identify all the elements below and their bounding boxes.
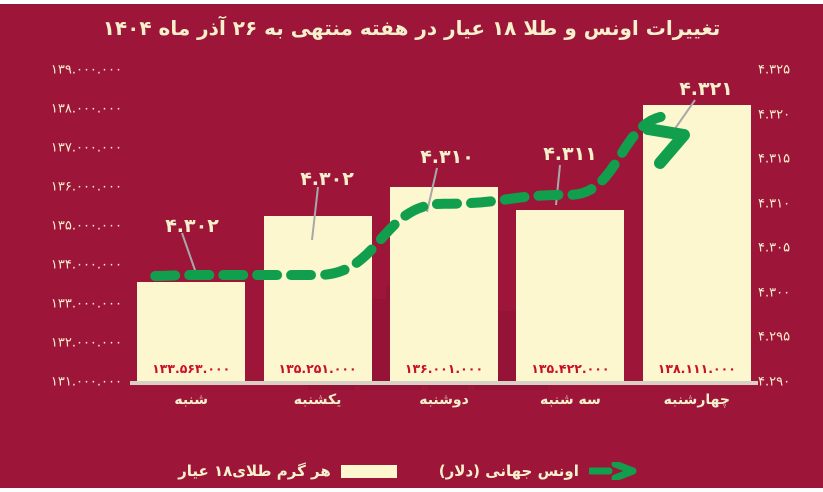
point-label-1: ۴.۳۰۲ xyxy=(300,168,354,190)
left-tick: ۱۳۴.۰۰۰.۰۰۰ xyxy=(4,258,122,273)
left-tick: ۱۳۷.۰۰۰.۰۰۰ xyxy=(4,141,122,156)
bar-value-label: ۱۳۸.۱۱۱.۰۰۰ xyxy=(643,361,751,376)
point-label-2: ۴.۳۱۰ xyxy=(420,146,474,168)
bar-0[interactable]: ۱۳۳.۵۶۳.۰۰۰ xyxy=(137,282,245,382)
bar-value-label: ۱۳۶.۰۰۱.۰۰۰ xyxy=(390,361,498,376)
point-label-0: ۴.۳۰۲ xyxy=(165,215,219,237)
point-label-3: ۴.۳۱۱ xyxy=(543,143,597,165)
left-tick: ۱۳۵.۰۰۰.۰۰۰ xyxy=(4,219,122,234)
left-tick: ۱۳۱.۰۰۰.۰۰۰ xyxy=(4,375,122,390)
right-tick: ۴.۳۲۰ xyxy=(758,107,820,122)
left-tick: ۱۳۳.۰۰۰.۰۰۰ xyxy=(4,297,122,312)
bar-3[interactable]: ۱۳۵.۴۲۲.۰۰۰ xyxy=(516,210,624,382)
cream-bar-swatch xyxy=(341,465,397,478)
right-tick: ۴.۳۲۵ xyxy=(758,63,820,78)
axis-baseline xyxy=(130,381,758,385)
left-tick: ۱۳۶.۰۰۰.۰۰۰ xyxy=(4,180,122,195)
category-label-4: چهارشنبه xyxy=(664,392,730,408)
right-tick: ۴.۳۱۰ xyxy=(758,196,820,211)
category-label-2: دوشنبه xyxy=(419,392,469,408)
right-tick: ۴.۳۱۵ xyxy=(758,152,820,167)
legend-item-ounce: اونس جهانی (دلار) xyxy=(439,462,645,480)
chart-legend: اونس جهانی (دلار) هر گرم طلای۱۸ عیار xyxy=(0,462,823,480)
left-tick: ۱۳۸.۰۰۰.۰۰۰ xyxy=(4,102,122,117)
category-label-0: شنبه xyxy=(174,392,208,408)
chart-title: تغییرات اونس و طلا ۱۸ عیار در هفته منتهی… xyxy=(0,16,823,40)
bar-value-label: ۱۳۵.۲۵۱.۰۰۰ xyxy=(264,361,372,376)
bar-value-label: ۱۳۳.۵۶۳.۰۰۰ xyxy=(137,361,245,376)
right-tick: ۴.۲۹۰ xyxy=(758,375,820,390)
plot-area: ۱۳۳.۵۶۳.۰۰۰۱۳۵.۲۵۱.۰۰۰۱۳۶.۰۰۱.۰۰۰۱۳۵.۴۲۲… xyxy=(128,70,760,382)
right-tick: ۴.۲۹۵ xyxy=(758,330,820,345)
left-tick: ۱۳۹.۰۰۰.۰۰۰ xyxy=(4,63,122,78)
bar-1[interactable]: ۱۳۵.۲۵۱.۰۰۰ xyxy=(264,216,372,382)
left-axis: ۱۳۹.۰۰۰.۰۰۰۱۳۸.۰۰۰.۰۰۰۱۳۷.۰۰۰.۰۰۰۱۳۶.۰۰۰… xyxy=(4,70,122,382)
bar-value-label: ۱۳۵.۴۲۲.۰۰۰ xyxy=(516,361,624,376)
legend-item-gold18: هر گرم طلای۱۸ عیار xyxy=(178,462,397,480)
right-tick: ۴.۳۰۵ xyxy=(758,241,820,256)
category-label-3: سه شنبه xyxy=(540,392,601,408)
page-margin-bottom xyxy=(0,488,823,492)
page-margin-top xyxy=(0,0,823,4)
chart-container: تغییرات اونس و طلا ۱۸ عیار در هفته منتهی… xyxy=(0,0,823,492)
bar-2[interactable]: ۱۳۶.۰۰۱.۰۰۰ xyxy=(390,187,498,382)
category-label-1: یکشنبه xyxy=(294,392,342,408)
right-tick: ۴.۳۰۰ xyxy=(758,285,820,300)
left-tick: ۱۳۲.۰۰۰.۰۰۰ xyxy=(4,336,122,351)
legend-label-gold18: هر گرم طلای۱۸ عیار xyxy=(178,462,331,480)
legend-label-ounce: اونس جهانی (دلار) xyxy=(439,462,579,480)
green-dashed-arrow-icon xyxy=(589,462,645,480)
right-axis: ۴.۳۲۵۴.۳۲۰۴.۳۱۵۴.۳۱۰۴.۳۰۵۴.۳۰۰۴.۲۹۵۴.۲۹۰ xyxy=(758,70,820,382)
bar-4[interactable]: ۱۳۸.۱۱۱.۰۰۰ xyxy=(643,105,751,382)
point-label-4: ۴.۳۲۱ xyxy=(679,78,733,100)
